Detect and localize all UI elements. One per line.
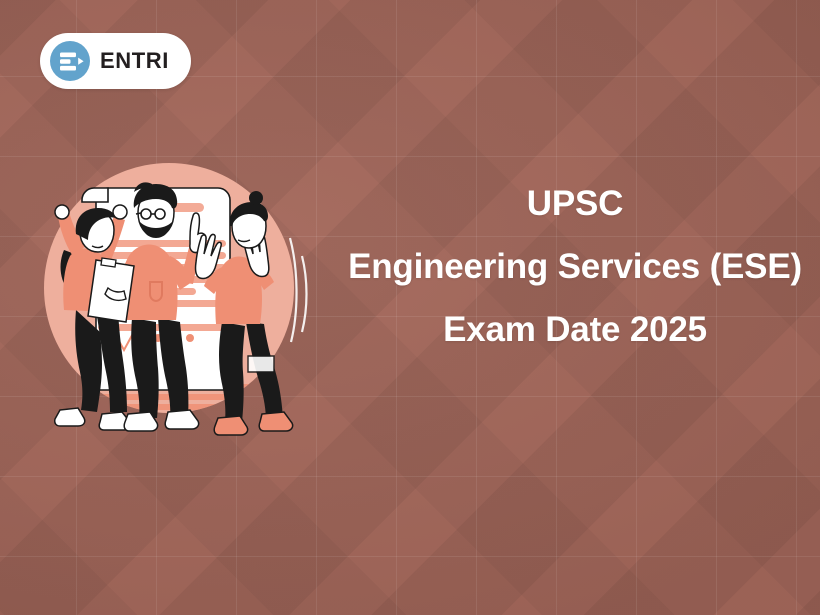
entri-e-play-icon [50, 41, 90, 81]
headline-line-1: UPSC [330, 186, 820, 221]
headline-block: UPSC Engineering Services (ESE) Exam Dat… [330, 186, 820, 347]
brand-name: ENTRI [100, 50, 169, 72]
headline-line-3: Exam Date 2025 [330, 312, 820, 347]
promo-banner: ENTRI [0, 0, 820, 615]
headline-line-2: Engineering Services (ESE) [330, 249, 820, 284]
brand-logo[interactable]: ENTRI [40, 33, 191, 89]
people-celebrating-exam-result-illustration [40, 160, 320, 450]
